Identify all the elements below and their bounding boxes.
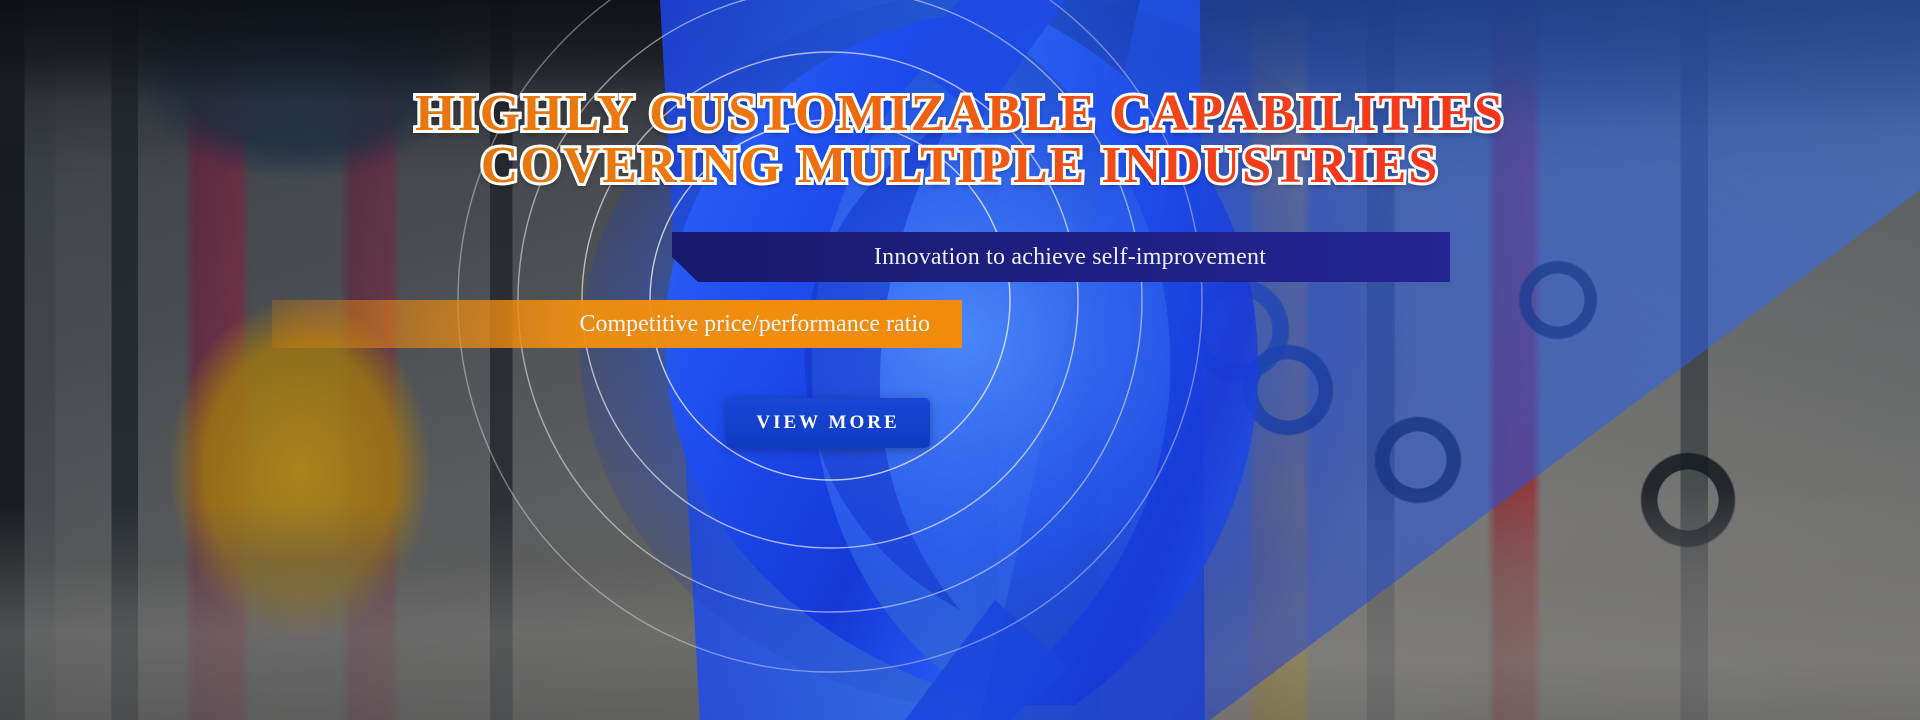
hero-banner: Highly Customizable Capabilities Highly … bbox=[0, 0, 1920, 720]
subtitle-bar-primary: Innovation to achieve self-improvement bbox=[672, 232, 1450, 282]
blue-swoosh-graphic bbox=[0, 0, 1920, 720]
subtitle-bar-secondary: Competitive price/performance ratio bbox=[272, 300, 962, 348]
subtitle-secondary-text: Competitive price/performance ratio bbox=[579, 311, 962, 338]
view-more-button[interactable]: View More bbox=[726, 398, 930, 448]
subtitle-primary-text: Innovation to achieve self-improvement bbox=[856, 244, 1266, 271]
